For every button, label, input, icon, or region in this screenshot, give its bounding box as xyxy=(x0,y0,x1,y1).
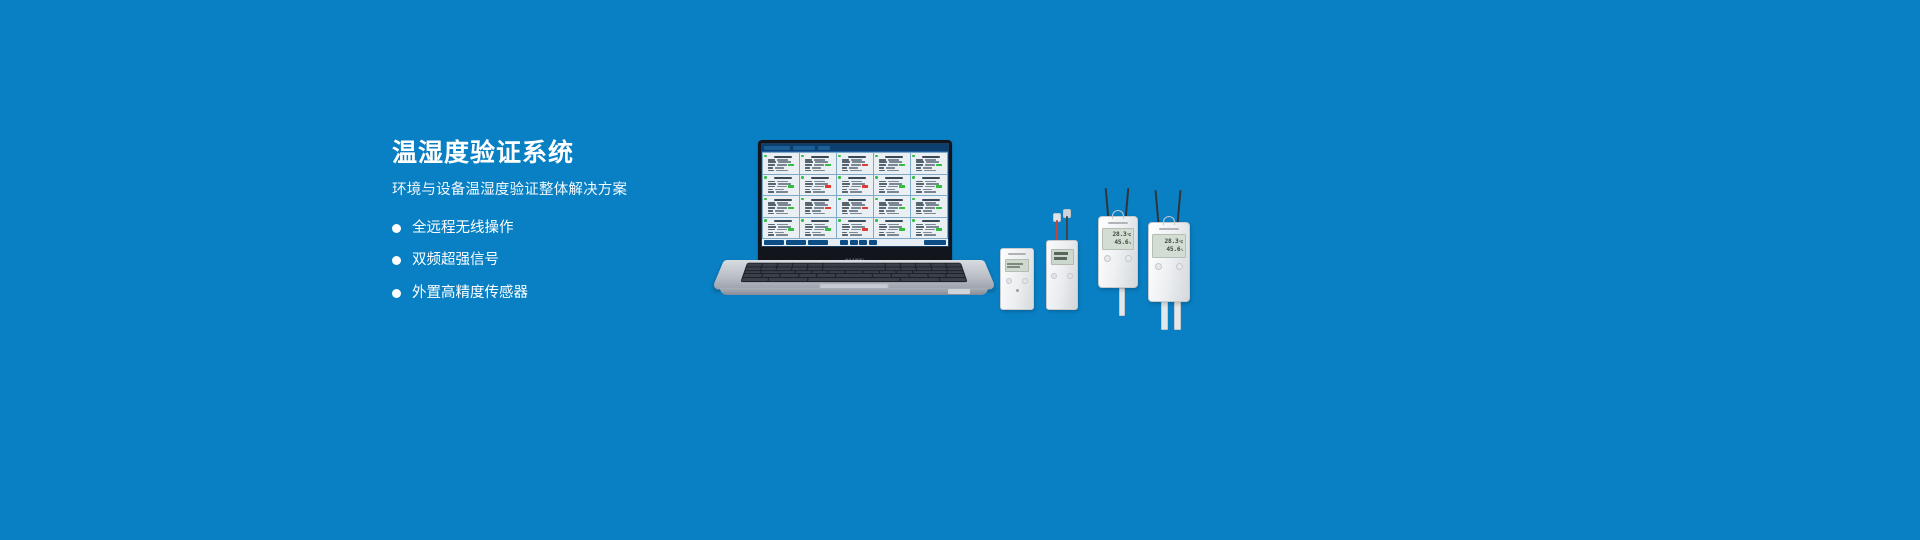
sensor-card[interactable] xyxy=(911,196,947,217)
keyboard-key[interactable] xyxy=(891,274,909,277)
card-detail-row xyxy=(768,224,798,226)
keyboard-key[interactable] xyxy=(778,264,793,267)
card-detail-label xyxy=(842,229,849,231)
card-detail-row xyxy=(879,207,909,209)
keyboard-key[interactable] xyxy=(931,264,946,267)
antenna-3 xyxy=(1155,190,1160,224)
keyboard-key[interactable] xyxy=(946,264,961,267)
sensor-card[interactable] xyxy=(800,218,836,239)
keyboard-key[interactable] xyxy=(946,274,965,277)
card-status-dot-icon xyxy=(801,198,804,201)
card-detail-label xyxy=(879,167,884,169)
keyboard-key[interactable] xyxy=(901,267,916,270)
card-detail-label xyxy=(768,181,775,183)
meter-1-keypad[interactable] xyxy=(1104,255,1132,262)
probe-display-line-2 xyxy=(1054,257,1067,260)
card-detail-label xyxy=(768,161,776,163)
keyboard-key[interactable] xyxy=(873,274,891,277)
card-title xyxy=(922,156,940,158)
card-detail-label xyxy=(879,159,886,161)
card-detail-value xyxy=(776,213,788,215)
meter-2-brand-mark xyxy=(1159,228,1179,230)
keyboard-key[interactable] xyxy=(746,267,762,270)
card-detail-row xyxy=(842,207,872,209)
menu-group-2[interactable] xyxy=(793,146,815,150)
sensor-card[interactable] xyxy=(837,218,873,239)
card-detail-row xyxy=(805,202,835,204)
probe-button-left[interactable] xyxy=(1051,273,1057,279)
card-detail-label xyxy=(768,167,773,169)
card-status-badge xyxy=(899,164,905,166)
card-detail-row xyxy=(842,234,872,236)
keyboard-key[interactable] xyxy=(742,278,769,281)
card-detail-value xyxy=(925,207,935,209)
card-status-badge xyxy=(825,185,831,187)
card-detail-value xyxy=(926,183,939,185)
card-detail-value xyxy=(889,204,902,206)
card-detail-row xyxy=(916,210,946,212)
card-detail-value xyxy=(778,183,791,185)
card-status-badge xyxy=(899,228,905,230)
card-detail-value xyxy=(851,181,862,183)
toolbar-action-right[interactable] xyxy=(924,240,946,245)
keyboard-key[interactable] xyxy=(808,278,901,281)
card-status-dot-icon xyxy=(838,219,841,222)
card-detail-label xyxy=(842,167,847,169)
keyboard-key[interactable] xyxy=(846,271,862,274)
card-status-dot-icon xyxy=(875,155,878,158)
meter-2-keypad[interactable] xyxy=(1155,263,1183,270)
laptop-deck xyxy=(712,260,997,290)
card-title xyxy=(885,220,903,222)
menu-group-1[interactable] xyxy=(764,146,790,150)
card-detail-row xyxy=(768,226,798,228)
keyboard-key[interactable] xyxy=(930,271,947,274)
card-detail-row xyxy=(916,204,946,206)
card-detail-value xyxy=(775,232,784,234)
logger-status-led-icon xyxy=(1016,289,1019,292)
card-detail-label xyxy=(805,229,812,231)
card-detail-label xyxy=(842,189,847,191)
card-detail-value xyxy=(923,189,932,191)
sensor-card[interactable] xyxy=(911,153,947,174)
app-toolbar xyxy=(762,239,948,246)
card-detail-row xyxy=(805,181,835,183)
card-detail-row xyxy=(879,232,909,234)
antenna-4 xyxy=(1177,190,1182,224)
keyboard-key[interactable] xyxy=(808,267,823,270)
card-detail-row xyxy=(842,232,872,234)
sensor-card[interactable] xyxy=(837,175,873,196)
card-status-badge xyxy=(862,185,868,187)
card-title xyxy=(885,156,903,158)
sensor-card[interactable] xyxy=(911,218,947,239)
card-detail-row xyxy=(768,213,798,215)
meter-2-button-right[interactable] xyxy=(1176,263,1183,270)
sensor-card[interactable] xyxy=(800,153,836,174)
card-title xyxy=(848,220,866,222)
card-detail-label xyxy=(879,202,886,204)
card-detail-row xyxy=(768,183,798,185)
page-1-button[interactable] xyxy=(850,240,858,245)
card-title xyxy=(848,156,866,158)
card-detail-row xyxy=(916,226,946,228)
page-prev-button[interactable] xyxy=(840,240,848,245)
keyboard-key[interactable] xyxy=(761,267,776,270)
meter-1-temperature-reading: 28.3℃ xyxy=(1112,231,1131,239)
card-detail-value xyxy=(813,234,825,236)
feature-label: 外置高精度传感器 xyxy=(412,286,528,301)
keyboard-key[interactable] xyxy=(743,274,762,277)
probe-display-line-1 xyxy=(1054,252,1069,255)
card-detail-row xyxy=(879,183,909,185)
card-detail-row xyxy=(768,185,798,187)
list-item: 双频超强信号 xyxy=(392,253,722,268)
keyboard-key[interactable] xyxy=(744,271,761,274)
sensor-card[interactable] xyxy=(874,175,910,196)
card-detail-row xyxy=(805,185,835,187)
card-detail-value xyxy=(926,226,939,228)
card-status-dot-icon xyxy=(764,219,767,222)
card-detail-row xyxy=(879,226,909,228)
card-detail-value xyxy=(923,210,932,212)
logger-button-right[interactable] xyxy=(1022,278,1028,284)
keyboard-key[interactable] xyxy=(863,271,879,274)
card-detail-value xyxy=(814,207,824,209)
card-status-dot-icon xyxy=(838,155,841,158)
card-detail-value xyxy=(851,159,862,161)
sensor-card[interactable] xyxy=(763,218,799,239)
card-detail-label xyxy=(916,186,923,188)
card-detail-row xyxy=(916,202,946,204)
keyboard-key[interactable] xyxy=(896,271,912,274)
laptop-keyboard[interactable] xyxy=(740,263,967,282)
card-detail-label xyxy=(768,226,776,228)
card-detail-row xyxy=(916,161,946,163)
card-detail-row xyxy=(768,170,798,172)
card-detail-row xyxy=(916,164,946,166)
sensor-card[interactable] xyxy=(763,196,799,217)
card-detail-row xyxy=(916,228,946,230)
card-detail-label xyxy=(805,226,813,228)
card-detail-row xyxy=(879,189,909,191)
card-status-badge xyxy=(862,228,868,230)
keyboard-row xyxy=(744,271,963,274)
keyboard-key[interactable] xyxy=(885,267,900,270)
page-next-button[interactable] xyxy=(869,240,877,245)
keyboard-key[interactable] xyxy=(947,271,964,274)
toolbar-action-2[interactable] xyxy=(786,240,806,245)
sensor-card[interactable] xyxy=(763,153,799,174)
card-detail-value xyxy=(778,161,791,163)
card-detail-value xyxy=(777,159,788,161)
feature-label: 双频超强信号 xyxy=(412,253,499,268)
card-detail-row xyxy=(805,210,835,212)
sensor-card[interactable] xyxy=(911,175,947,196)
logger-button-left[interactable] xyxy=(1006,278,1012,284)
keyboard-key[interactable] xyxy=(931,267,946,270)
sensor-card[interactable] xyxy=(874,196,910,217)
card-detail-value xyxy=(777,186,787,188)
keyboard-key[interactable] xyxy=(910,274,928,277)
card-detail-value xyxy=(923,232,932,234)
keyboard-key[interactable] xyxy=(824,264,839,267)
card-detail-value xyxy=(777,202,788,204)
card-detail-row xyxy=(805,207,835,209)
card-detail-value xyxy=(814,229,824,231)
card-detail-label xyxy=(879,189,884,191)
card-detail-label xyxy=(879,224,886,226)
toolbar-action-1[interactable] xyxy=(764,240,784,245)
card-detail-value xyxy=(850,234,862,236)
card-detail-value xyxy=(815,161,828,163)
keyboard-key[interactable] xyxy=(761,271,778,274)
card-title xyxy=(774,220,792,222)
card-detail-label xyxy=(768,159,775,161)
keyboard-key[interactable] xyxy=(870,267,885,270)
keyboard-key[interactable] xyxy=(947,267,963,270)
meter-2-button-left[interactable] xyxy=(1155,263,1162,270)
card-detail-row xyxy=(805,228,835,230)
sensor-device-group: 28.3℃ 45.6% 28.3℃ xyxy=(1000,180,1220,310)
card-detail-label xyxy=(768,229,775,231)
card-detail-row xyxy=(842,181,872,183)
card-detail-value xyxy=(777,224,788,226)
card-detail-row xyxy=(842,226,872,228)
card-title xyxy=(922,199,940,201)
sensor-card[interactable] xyxy=(763,175,799,196)
card-detail-row xyxy=(768,159,798,161)
keyboard-key[interactable] xyxy=(913,271,930,274)
app-menubar xyxy=(762,144,948,152)
card-detail-value xyxy=(926,204,939,206)
data-logger-device xyxy=(1000,248,1034,310)
card-detail-value xyxy=(812,167,821,169)
card-detail-label xyxy=(879,181,886,183)
meter-2-humidity-reading: 45.6% xyxy=(1166,246,1183,254)
keyboard-key[interactable] xyxy=(939,278,966,281)
keyboard-key[interactable] xyxy=(839,264,854,267)
card-detail-value xyxy=(887,191,899,193)
card-detail-value xyxy=(778,204,791,206)
keyboard-key[interactable] xyxy=(793,264,808,267)
probe-button-right[interactable] xyxy=(1067,273,1073,279)
card-detail-label xyxy=(805,183,813,185)
card-detail-row xyxy=(768,189,798,191)
keyboard-key[interactable] xyxy=(885,264,900,267)
card-detail-value xyxy=(849,232,858,234)
card-detail-row xyxy=(842,161,872,163)
logger-keypad[interactable] xyxy=(1006,278,1028,284)
keyboard-key[interactable] xyxy=(808,264,823,267)
laptop-base xyxy=(718,260,990,298)
card-detail-value xyxy=(813,191,825,193)
meter-1-button-left[interactable] xyxy=(1104,255,1111,262)
card-detail-row xyxy=(879,213,909,215)
dot-bullet-icon xyxy=(392,289,401,298)
card-detail-value xyxy=(924,213,936,215)
keyboard-key[interactable] xyxy=(812,271,828,274)
card-detail-label xyxy=(916,224,923,226)
card-detail-row xyxy=(768,161,798,163)
keyboard-key[interactable] xyxy=(915,264,930,267)
card-detail-row xyxy=(842,204,872,206)
card-title xyxy=(848,199,866,201)
card-detail-label xyxy=(842,170,848,172)
card-detail-value xyxy=(776,170,788,172)
card-detail-label xyxy=(916,226,924,228)
card-detail-row xyxy=(879,167,909,169)
meter-1-brand-mark xyxy=(1108,222,1128,224)
keyboard-key[interactable] xyxy=(920,278,939,281)
keyboard-key[interactable] xyxy=(829,271,845,274)
card-detail-row xyxy=(879,204,909,206)
feature-label: 全远程无线操作 xyxy=(412,221,514,236)
card-detail-value xyxy=(925,202,936,204)
card-status-dot-icon xyxy=(875,198,878,201)
keyboard-key[interactable] xyxy=(916,267,931,270)
probe-cable-red xyxy=(1056,220,1058,242)
card-detail-row xyxy=(805,204,835,206)
card-detail-label xyxy=(879,213,885,215)
card-detail-value xyxy=(888,202,899,204)
keyboard-key[interactable] xyxy=(928,274,946,277)
meter-1-hanger-icon xyxy=(1112,210,1124,219)
page-2-button[interactable] xyxy=(859,240,867,245)
card-detail-label xyxy=(916,183,924,185)
card-detail-row xyxy=(768,164,798,166)
card-detail-row xyxy=(916,224,946,226)
sensor-card[interactable] xyxy=(837,196,873,217)
card-detail-value xyxy=(924,191,936,193)
card-status-dot-icon xyxy=(801,219,804,222)
sensor-card[interactable] xyxy=(800,196,836,217)
keyboard-key[interactable] xyxy=(836,274,854,277)
sensor-card[interactable] xyxy=(800,175,836,196)
keyboard-key[interactable] xyxy=(880,271,896,274)
card-detail-label xyxy=(916,213,922,215)
sensor-card[interactable] xyxy=(837,153,873,174)
card-status-dot-icon xyxy=(838,176,841,179)
card-detail-row xyxy=(916,213,946,215)
laptop-screen xyxy=(761,143,949,247)
keyboard-row xyxy=(747,264,961,267)
card-detail-value xyxy=(851,202,862,204)
handheld-meter-2: 28.3℃ 45.6% xyxy=(1148,222,1190,302)
keyboard-key[interactable] xyxy=(780,274,798,277)
card-detail-label xyxy=(879,191,885,193)
sensor-card[interactable] xyxy=(874,218,910,239)
card-detail-value xyxy=(925,224,936,226)
keyboard-key[interactable] xyxy=(854,274,872,277)
card-detail-label xyxy=(768,202,775,204)
card-status-dot-icon xyxy=(912,155,915,158)
card-status-dot-icon xyxy=(912,198,915,201)
meter-2-hanger-icon xyxy=(1163,216,1175,225)
card-status-badge xyxy=(788,164,794,166)
card-title xyxy=(848,177,866,179)
card-detail-label xyxy=(842,224,849,226)
menu-group-3[interactable] xyxy=(818,146,830,150)
card-detail-row xyxy=(805,224,835,226)
card-detail-label xyxy=(879,204,887,206)
card-detail-value xyxy=(814,159,825,161)
meter-2-display: 28.3℃ 45.6% xyxy=(1152,234,1186,258)
card-detail-value xyxy=(851,207,861,209)
card-detail-row xyxy=(842,170,872,172)
keyboard-key[interactable] xyxy=(777,267,792,270)
keyboard-key[interactable] xyxy=(747,264,762,267)
keyboard-key[interactable] xyxy=(762,274,780,277)
card-detail-value xyxy=(887,213,899,215)
card-detail-value xyxy=(886,167,895,169)
card-detail-label xyxy=(842,186,849,188)
logger-brand-mark xyxy=(1008,253,1026,255)
card-detail-label xyxy=(916,189,921,191)
keyboard-key[interactable] xyxy=(870,264,885,267)
keyboard-key[interactable] xyxy=(823,267,838,270)
card-detail-value xyxy=(812,232,821,234)
card-detail-value xyxy=(925,186,935,188)
card-detail-value xyxy=(777,181,788,183)
keyboard-key[interactable] xyxy=(778,271,795,274)
keyboard-key[interactable] xyxy=(799,274,817,277)
card-detail-label xyxy=(916,161,924,163)
keyboard-key[interactable] xyxy=(769,278,788,281)
keyboard-key[interactable] xyxy=(788,278,807,281)
keyboard-key[interactable] xyxy=(854,267,869,270)
keyboard-key[interactable] xyxy=(762,264,777,267)
sensor-card[interactable] xyxy=(874,153,910,174)
keyboard-key[interactable] xyxy=(901,278,920,281)
card-detail-row xyxy=(879,170,909,172)
card-detail-label xyxy=(842,226,850,228)
keyboard-key[interactable] xyxy=(839,267,854,270)
card-title xyxy=(885,177,903,179)
card-detail-label xyxy=(768,189,773,191)
probe-logger-display xyxy=(1051,249,1074,265)
keyboard-key[interactable] xyxy=(854,264,869,267)
card-detail-row xyxy=(879,228,909,230)
card-detail-value xyxy=(925,164,935,166)
laptop-badge xyxy=(948,289,970,294)
meter-2-probe-right xyxy=(1174,300,1181,330)
keyboard-key[interactable] xyxy=(817,274,835,277)
card-title xyxy=(774,199,792,201)
card-detail-row xyxy=(805,234,835,236)
probe-logger-keypad[interactable] xyxy=(1051,273,1073,279)
card-detail-row xyxy=(916,232,946,234)
meter-1-button-right[interactable] xyxy=(1125,255,1132,262)
keyboard-key[interactable] xyxy=(900,264,915,267)
card-detail-row xyxy=(768,228,798,230)
card-detail-row xyxy=(916,191,946,193)
card-detail-row xyxy=(805,167,835,169)
card-detail-value xyxy=(889,226,902,228)
toolbar-action-3[interactable] xyxy=(808,240,828,245)
logger-display xyxy=(1005,259,1029,272)
card-detail-label xyxy=(842,159,849,161)
keyboard-key[interactable] xyxy=(792,267,807,270)
card-detail-row xyxy=(879,181,909,183)
card-detail-label xyxy=(805,181,812,183)
keyboard-key[interactable] xyxy=(795,271,811,274)
card-detail-row xyxy=(842,224,872,226)
card-detail-label xyxy=(768,213,774,215)
card-detail-label xyxy=(879,207,886,209)
card-detail-value xyxy=(852,226,865,228)
card-detail-value xyxy=(850,213,862,215)
